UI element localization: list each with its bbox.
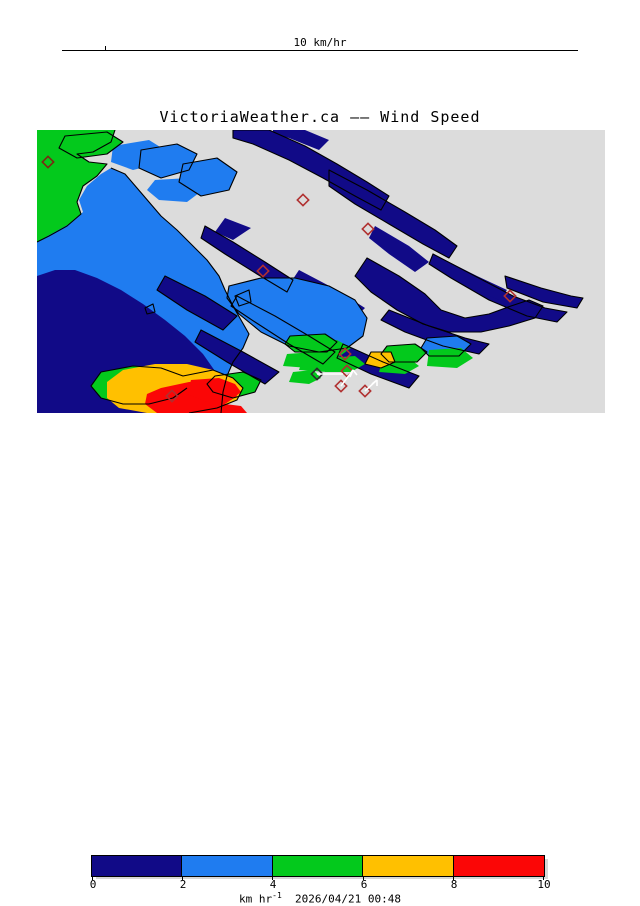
wind-vector-scale-label: 10 km/hr xyxy=(0,36,640,49)
wind-vector-scale: 10 km/hr xyxy=(0,0,640,70)
wind-vector-scale-tick xyxy=(105,46,106,50)
colorbar-bands[interactable] xyxy=(91,855,545,877)
colorbar-timestamp: 2026/04/21 00:48 xyxy=(282,893,401,906)
page-title: VictoriaWeather.ca —— Wind Speed xyxy=(0,108,640,126)
colorbar-units-exponent: -1 xyxy=(272,891,282,900)
wind-vector-scale-line xyxy=(62,50,578,51)
wind-speed-map[interactable] xyxy=(37,130,605,413)
colorbar-caption: km hr-1 2026/04/21 00:48 xyxy=(0,889,640,906)
colorbar-band-2-4[interactable] xyxy=(181,856,272,876)
colorbar-band-4-6[interactable] xyxy=(272,856,363,876)
colorbar-units-label: km hr xyxy=(239,893,272,906)
colorbar-band-6-8[interactable] xyxy=(362,856,453,876)
colorbar-legend: 0 2 4 6 8 10 km hr-1 2026/04/21 00:48 xyxy=(0,425,640,480)
colorbar-band-8-10[interactable] xyxy=(453,856,544,876)
map-canvas[interactable] xyxy=(37,130,605,413)
colorbar-band-0-2[interactable] xyxy=(92,856,182,876)
